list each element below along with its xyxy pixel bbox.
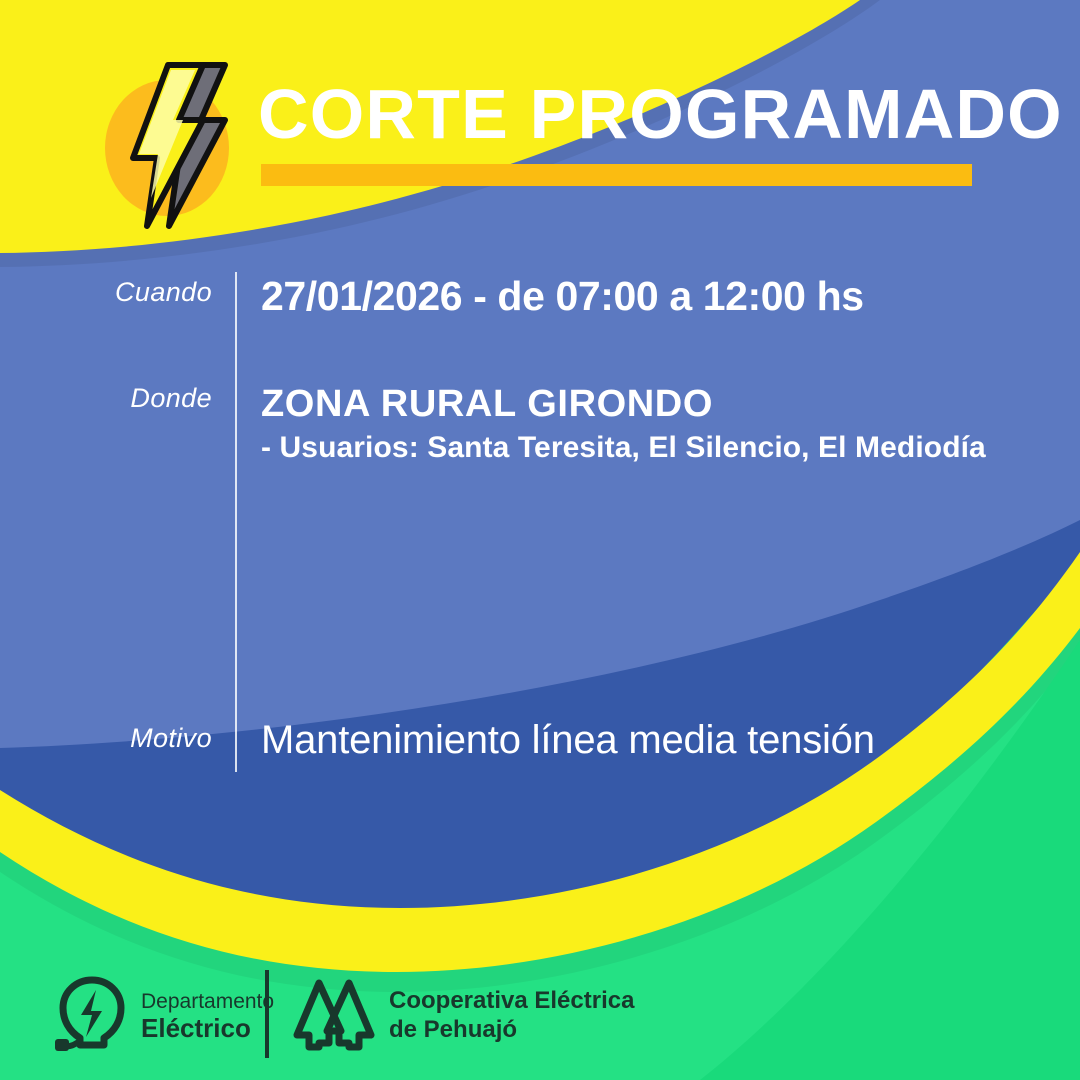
value-motivo: Mantenimiento línea media tensión: [261, 715, 875, 765]
label-donde-text: Donde: [130, 383, 212, 413]
footer-separator: [265, 970, 269, 1058]
brand-departamento-line2: Eléctrico: [141, 1015, 274, 1042]
poster-canvas: CORTE PROGRAMADO Cuando 27/01/2026 - de …: [0, 0, 1080, 1080]
label-cuando-text: Cuando: [115, 277, 212, 307]
brand-cooperativa-text: Cooperativa Eléctrica de Pehuajó: [389, 986, 634, 1044]
header: CORTE PROGRAMADO: [0, 0, 1080, 240]
lightning-bolt-icon: [97, 58, 247, 233]
brand-departamento-line1: Departamento: [141, 988, 274, 1015]
title-underline-bar: [261, 164, 972, 186]
info-divider: [235, 272, 237, 772]
value-donde-zone: ZONA RURAL GIRONDO: [261, 382, 713, 426]
brand-cooperativa: Cooperativa Eléctrica de Pehuajó: [293, 975, 634, 1055]
brand-cooperativa-line2: de Pehuajó: [389, 1015, 634, 1044]
bulb-bolt: [81, 990, 102, 1037]
lightbulb-bolt-icon: [55, 975, 127, 1055]
label-motivo-text: Motivo: [130, 723, 212, 753]
value-cuando: 27/01/2026 - de 07:00 a 12:00 hs: [261, 272, 864, 320]
brand-cooperativa-line1: Cooperativa Eléctrica: [389, 986, 634, 1015]
twin-pines-coop-icon: [293, 975, 375, 1055]
value-donde-users: - Usuarios: Santa Teresita, El Silencio,…: [261, 429, 986, 467]
page-title: CORTE PROGRAMADO: [258, 78, 1063, 150]
brand-departamento-electrico: Departamento Eléctrico: [55, 975, 274, 1055]
plug-body: [55, 1039, 69, 1051]
brand-departamento-text: Departamento Eléctrico: [141, 988, 274, 1042]
pine-right: [327, 983, 371, 1047]
